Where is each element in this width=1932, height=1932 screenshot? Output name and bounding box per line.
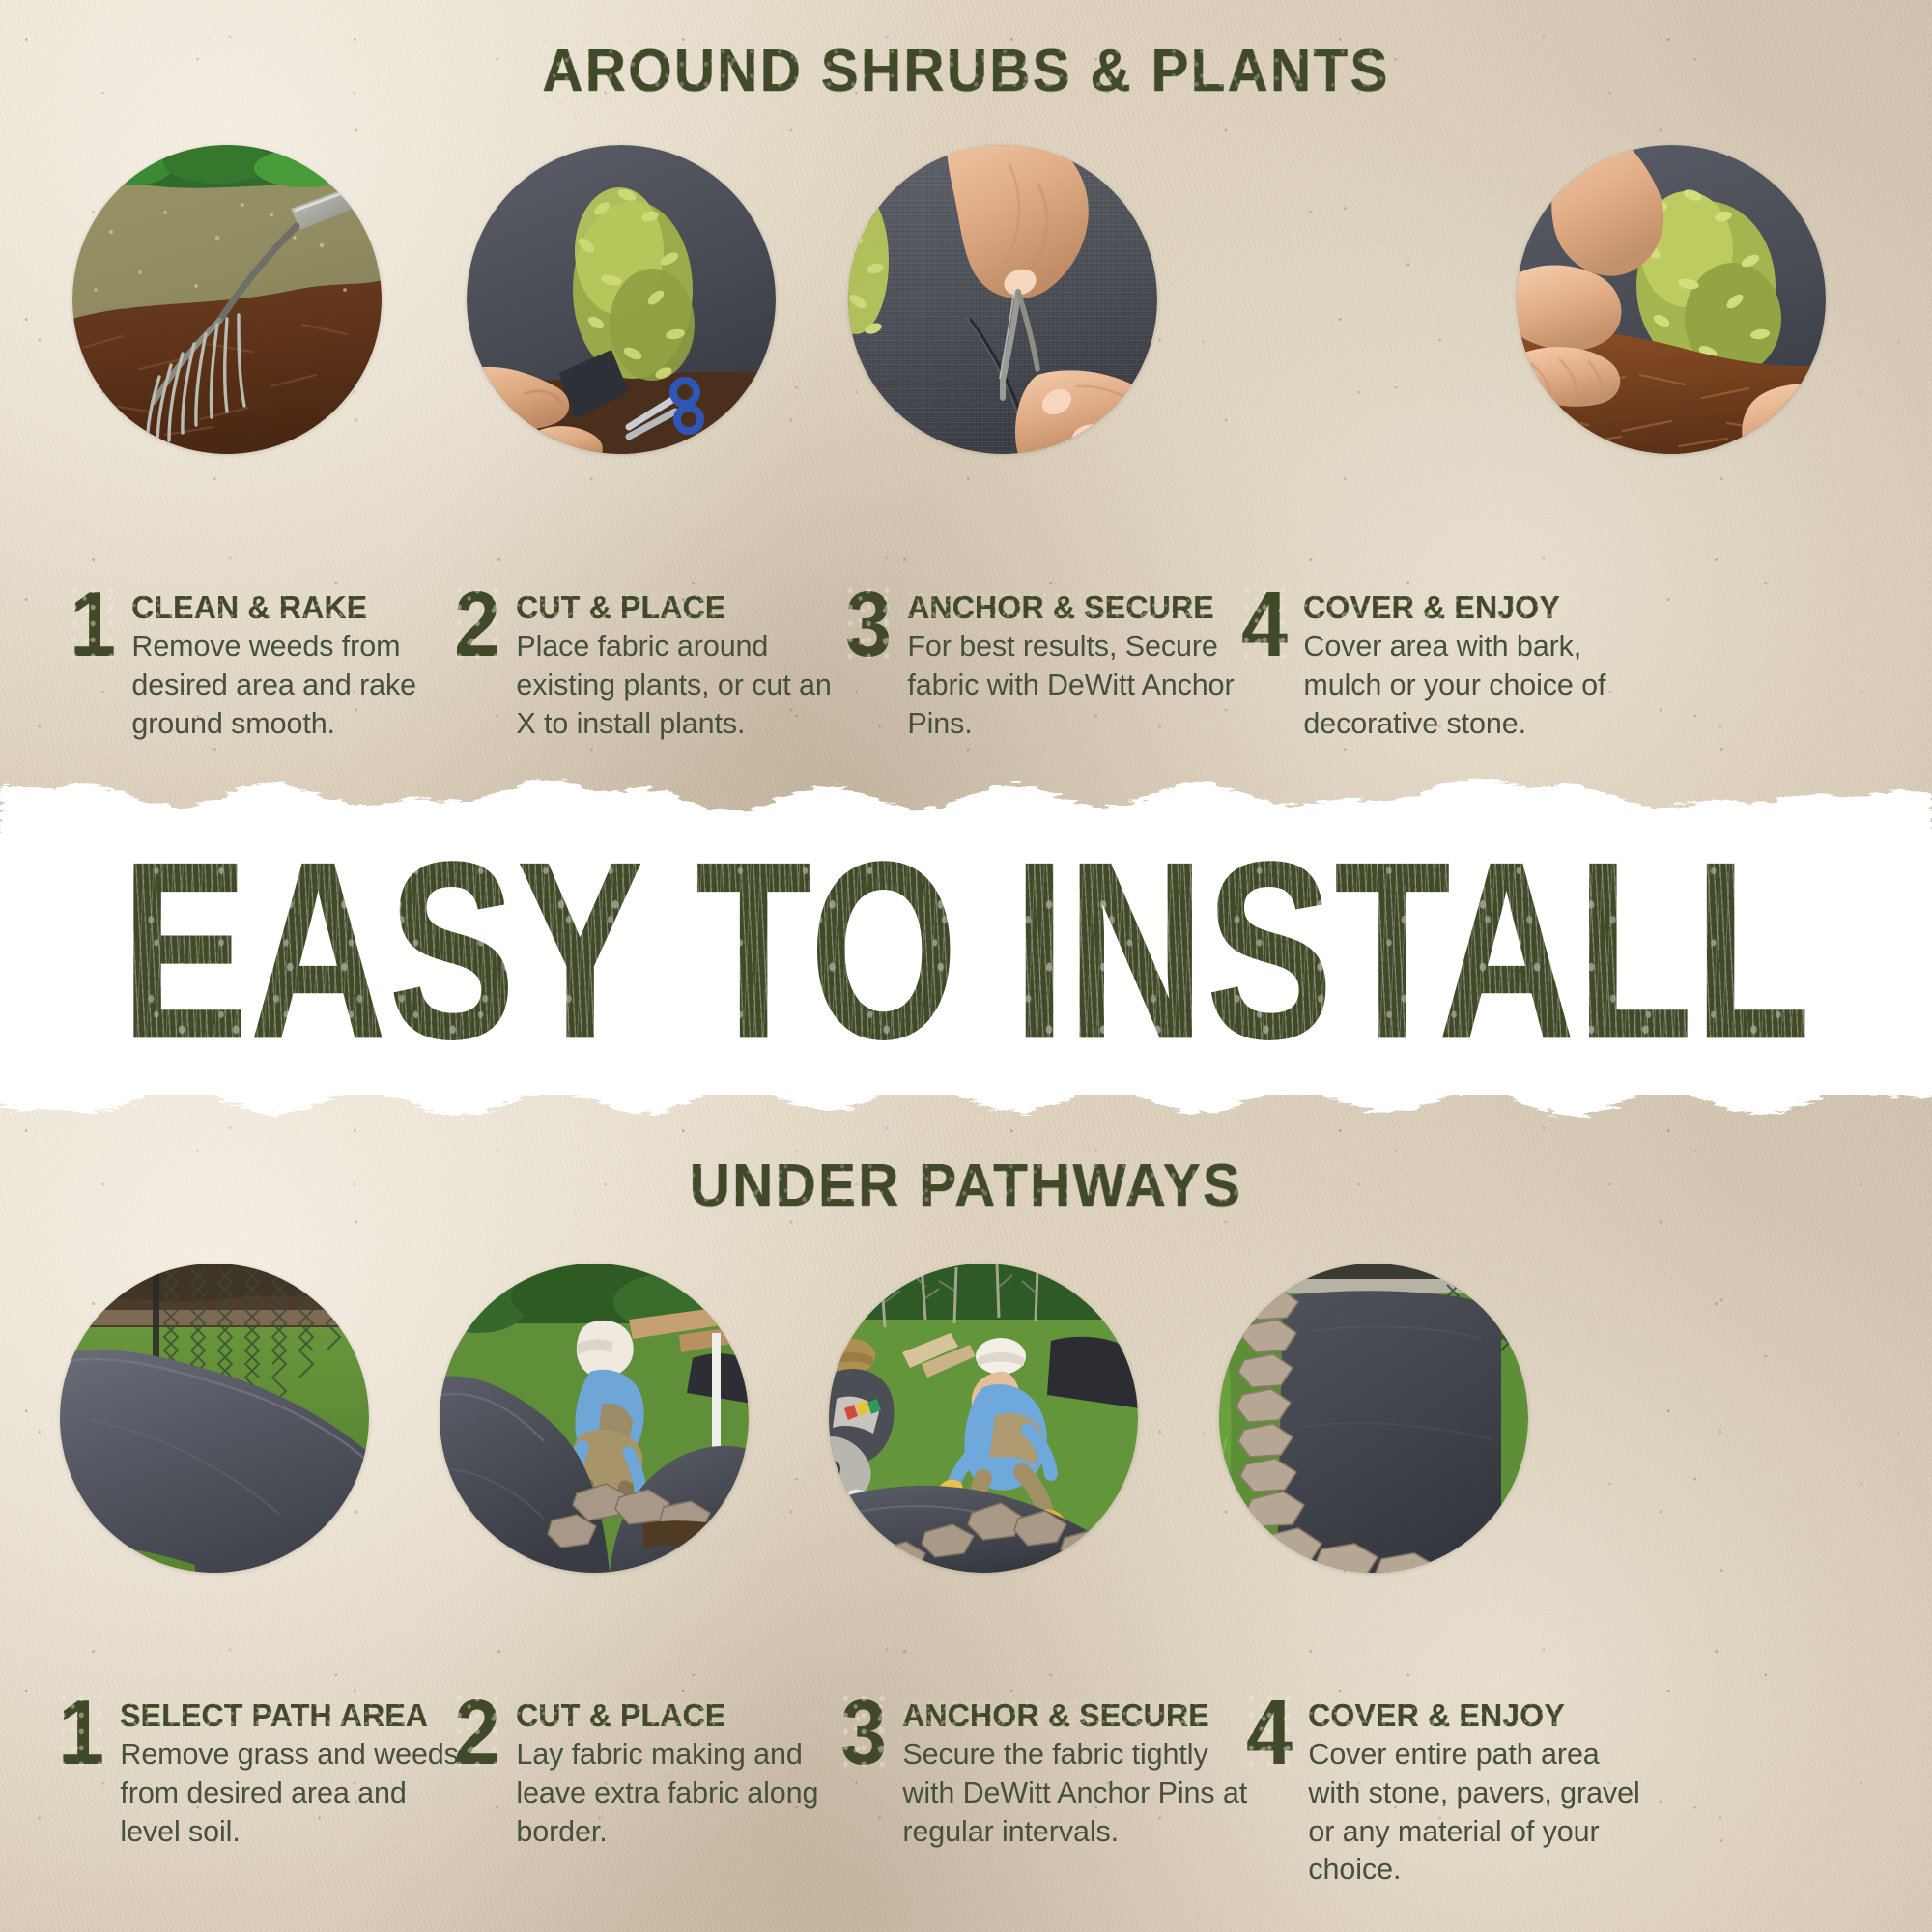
step-shrubs-4: 4 COVER & ENJOY Cover area with bark, mu… (1241, 587, 1647, 743)
step-shrubs-3: 3 ANCHOR & SECURE For best results, Secu… (845, 587, 1261, 743)
step-description: Secure the fabric tightly with DeWitt An… (902, 1736, 1265, 1851)
step-heading: COVER & ENJOY (1303, 591, 1560, 624)
photo-cut-fabric-around-shrub (467, 145, 776, 454)
step-number: 3 (845, 587, 890, 664)
step-number: 2 (454, 587, 498, 664)
step-body: COVER & ENJOY Cover entire path area wit… (1308, 1695, 1657, 1889)
step-number: 2 (454, 1695, 498, 1772)
step-description: Cover area with bark, mulch or your choi… (1303, 628, 1647, 743)
photo-fabric-roll-on-lawn (60, 1264, 369, 1573)
step-shrubs-2: 2 CUT & PLACE Place fabric around existi… (454, 587, 850, 743)
main-headline: EASY TO INSTALL (0, 838, 1932, 1061)
step-shrubs-1: 1 CLEAN & RAKE Remove weeds from desired… (70, 587, 456, 743)
step-pathways-1: 1 SELECT PATH AREA Remove grass and weed… (58, 1695, 464, 1851)
step-body: CLEAN & RAKE Remove weeds from desired a… (131, 587, 456, 743)
step-heading: SELECT PATH AREA (120, 1699, 428, 1732)
photo-finished-stone-path (1219, 1264, 1528, 1573)
step-heading: CUT & PLACE (516, 591, 725, 624)
step-body: CUT & PLACE Place fabric around existing… (516, 587, 850, 743)
step-body: CUT & PLACE Lay fabric making and leave … (516, 1695, 850, 1851)
step-body: ANCHOR & SECURE Secure the fabric tightl… (902, 1695, 1265, 1851)
step-description: Lay fabric making and leave extra fabric… (516, 1736, 850, 1851)
step-description: Cover entire path area with stone, paver… (1308, 1736, 1657, 1889)
photo-two-workers-securing (829, 1264, 1138, 1573)
infographic-page: AROUND SHRUBS & PLANTS (0, 0, 1932, 1932)
photo-row-shrubs (0, 145, 1932, 464)
step-pathways-4: 4 COVER & ENJOY Cover entire path area w… (1246, 1695, 1657, 1889)
step-number: 1 (70, 587, 114, 664)
step-number: 4 (1246, 1695, 1291, 1772)
step-body: SELECT PATH AREA Remove grass and weeds … (120, 1695, 464, 1851)
step-heading: COVER & ENJOY (1308, 1699, 1565, 1732)
step-body: COVER & ENJOY Cover area with bark, mulc… (1303, 587, 1647, 743)
step-description: Place fabric around existing plants, or … (516, 628, 850, 743)
photo-spread-mulch (1517, 145, 1826, 454)
section-title-pathways-text: UNDER PATHWAYS (690, 1152, 1243, 1219)
step-number: 4 (1241, 587, 1286, 664)
photo-row-pathways (0, 1264, 1932, 1582)
step-pathways-3: 3 ANCHOR & SECURE Secure the fabric tigh… (840, 1695, 1265, 1851)
section-title-shrubs: AROUND SHRUBS & PLANTS (58, 37, 1874, 105)
photo-anchor-pin-fabric (848, 145, 1157, 454)
step-description: Remove weeds from desired area and rake … (131, 628, 456, 743)
step-heading: ANCHOR & SECURE (902, 1699, 1209, 1732)
main-headline-text-wrap: EASY TO INSTALL (121, 823, 1811, 1076)
step-number: 3 (840, 1695, 885, 1772)
photo-worker-laying-fabric (440, 1264, 749, 1573)
section-title-pathways: UNDER PATHWAYS (58, 1151, 1874, 1220)
step-pathways-2: 2 CUT & PLACE Lay fabric making and leav… (454, 1695, 850, 1851)
photo-rake-mulch (72, 145, 382, 454)
step-heading: ANCHOR & SECURE (907, 591, 1214, 624)
step-description: For best results, Secure fabric with DeW… (907, 628, 1261, 743)
step-heading: CUT & PLACE (516, 1699, 725, 1732)
section-title-shrubs-text: AROUND SHRUBS & PLANTS (542, 38, 1389, 104)
main-headline-text: EASY TO INSTALL (121, 808, 1811, 1092)
step-description: Remove grass and weeds from desired area… (120, 1736, 464, 1851)
step-body: ANCHOR & SECURE For best results, Secure… (907, 587, 1261, 743)
step-heading: CLEAN & RAKE (131, 591, 367, 624)
step-number: 1 (58, 1695, 102, 1772)
